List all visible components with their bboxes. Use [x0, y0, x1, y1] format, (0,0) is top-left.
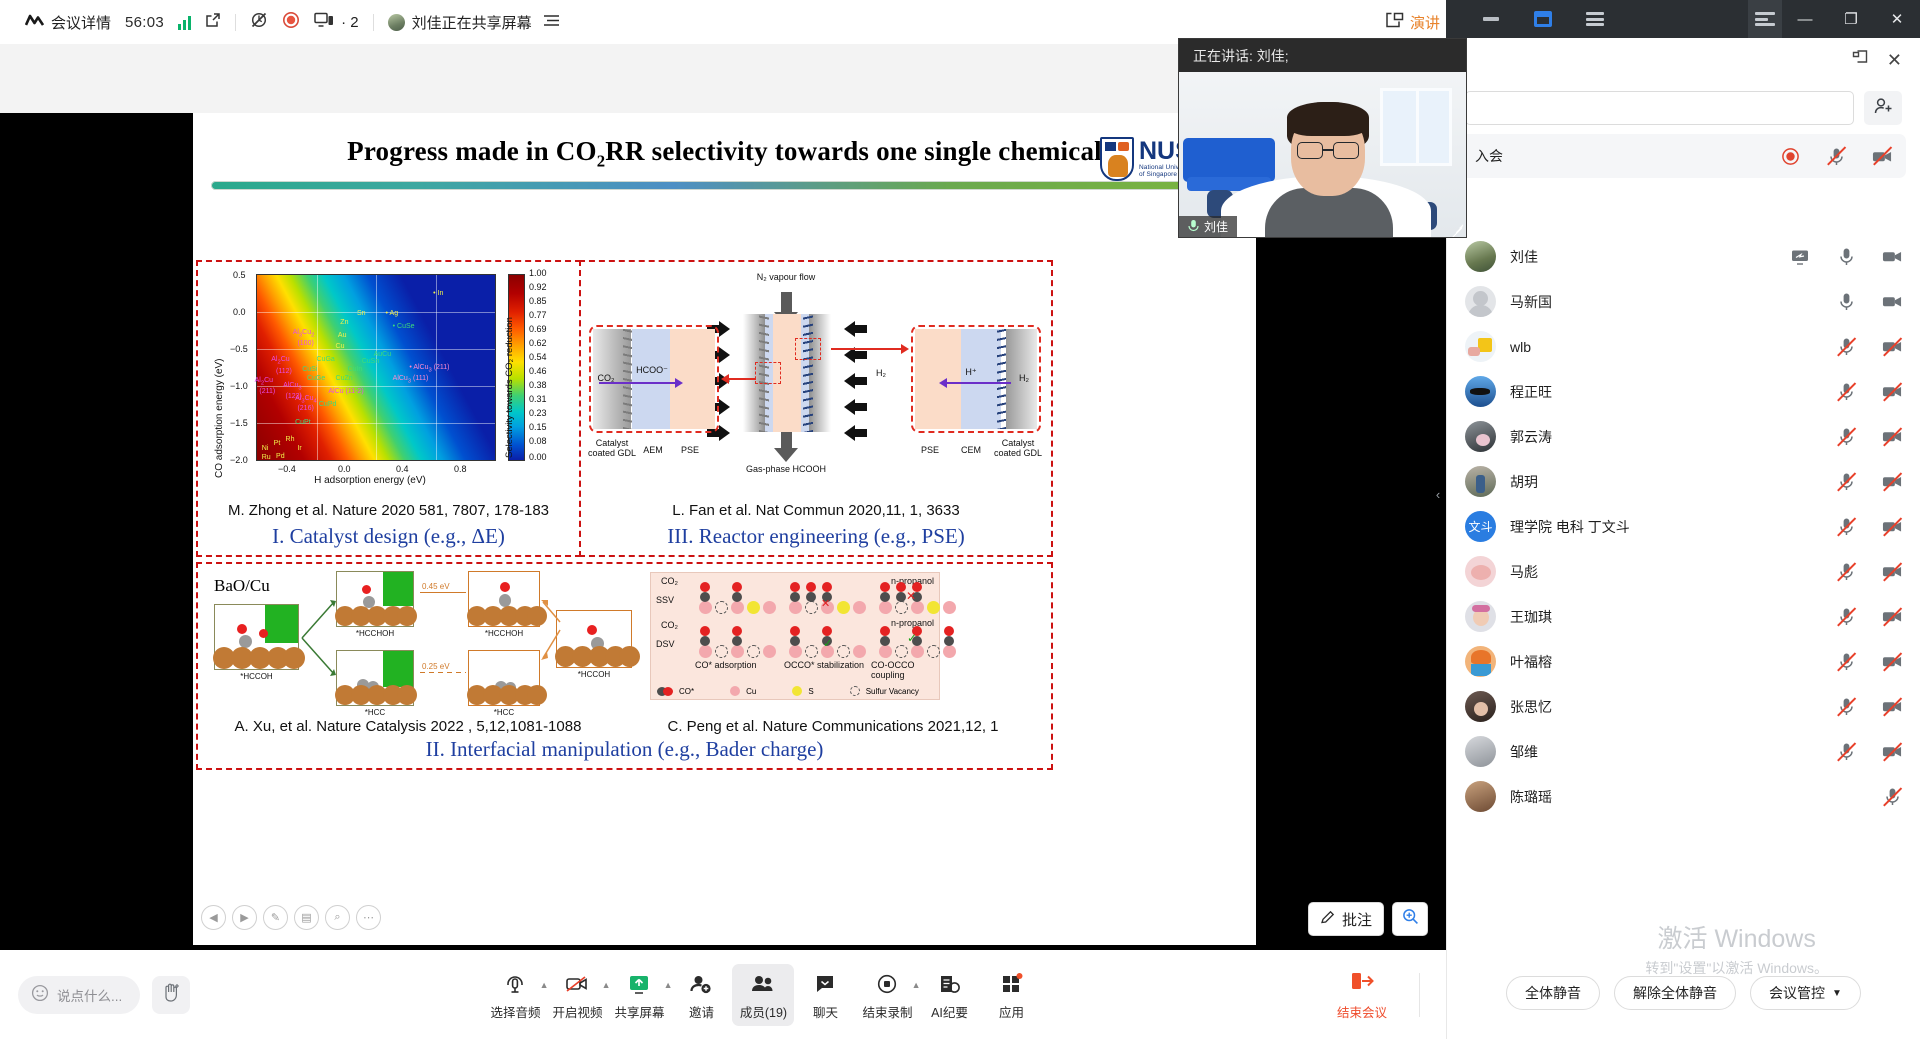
- presentation-icon: [1385, 12, 1404, 33]
- window-chrome-bar: — ❐ ✕: [1446, 0, 1920, 38]
- popout-button[interactable]: [198, 0, 228, 44]
- meeting-details-label: 会议详情: [51, 12, 111, 33]
- nus-shield-icon: [1100, 137, 1134, 181]
- window-minimize-button[interactable]: —: [1782, 0, 1828, 38]
- table-row[interactable]: 文斗 理学院 电科 丁文斗: [1447, 504, 1920, 549]
- center-membrane: [743, 314, 831, 432]
- legend-cu: Cu: [746, 687, 756, 696]
- add-person-button[interactable]: [1864, 91, 1902, 125]
- reactor-co2-left: CO₂: [593, 373, 619, 383]
- popout-window-icon[interactable]: [1851, 49, 1869, 72]
- panel-2-reference-right: C. Peng et al. Nature Communications 202…: [618, 718, 1048, 735]
- camera-off-icon[interactable]: [1882, 382, 1902, 402]
- mic-muted-icon[interactable]: [1836, 472, 1856, 492]
- resize-handle[interactable]: [1450, 221, 1464, 235]
- search-input[interactable]: [1465, 91, 1854, 125]
- meeting-tools: 选择音频 ▲ 开启视频 ▲ 共享屏幕 ▲ 邀请 成员: [484, 964, 1042, 1026]
- hamburger-menu-button[interactable]: [1578, 0, 1612, 38]
- presenter-label: 演讲: [1410, 12, 1440, 33]
- recording-disabled-button[interactable]: [243, 0, 275, 44]
- reactor-h2-mid: H₂: [869, 368, 893, 378]
- table-row[interactable]: 邹维: [1447, 729, 1920, 774]
- peng-figure: CO₂ SSV CO₂ DSV n-propanol n-propanol CO…: [650, 572, 940, 700]
- label-hccoh-start: *HCCOH: [214, 672, 299, 681]
- tool-label: 聊天: [813, 1002, 838, 1021]
- reactor-bottom-label: Gas-phase HCOOH: [721, 464, 851, 474]
- prev-slide-icon[interactable]: ◀: [201, 905, 226, 930]
- participants-panel: ✕ 入会 刘佳: [1446, 38, 1920, 1039]
- close-icon[interactable]: ✕: [1887, 50, 1902, 71]
- presentation-slide: Progress made in CO2RR selectivity towar…: [193, 113, 1256, 945]
- participants-icon: [750, 970, 776, 998]
- add-person-icon: [1873, 96, 1893, 121]
- participants-footer: 全体静音 解除全体静音 会议管控 ▼: [1447, 947, 1920, 1039]
- slide-title-sub: 2: [597, 151, 606, 170]
- right-layer-3: Catalyst coated GDL: [991, 438, 1045, 459]
- reactor-top-label: N₂ vapour flow: [731, 272, 841, 282]
- zoom-icon[interactable]: ⌕: [325, 905, 350, 930]
- share-screen-icon[interactable]: [1790, 247, 1810, 267]
- avatar: [1465, 331, 1496, 362]
- page-title: Progress made in CO2RR selectivity towar…: [193, 113, 1256, 171]
- title-divider-bar: [210, 180, 1239, 191]
- record-dot-icon[interactable]: [1780, 146, 1800, 166]
- chart-x-axis-label: H adsorption energy (eV): [190, 475, 550, 486]
- label-hcc-mid: *HCC: [336, 708, 414, 717]
- panel-interfacial-manipulation: BaO/Cu *HCCOH: [196, 562, 1053, 770]
- panel-reactor-engineering: N₂ vapour flow Gas-phase HCOOH: [579, 260, 1053, 557]
- side-panel-toggle[interactable]: [1748, 0, 1782, 38]
- table-row[interactable]: 马新国: [1447, 279, 1920, 324]
- avatar: [1465, 466, 1496, 497]
- speaker-header: 正在讲话: 刘佳;: [1179, 39, 1466, 72]
- tool-label: 邀请: [689, 1002, 714, 1021]
- more-lines-icon[interactable]: [543, 14, 560, 31]
- reactor-diagram: N₂ vapour flow Gas-phase HCOOH: [581, 262, 1051, 494]
- stop-record-icon: [875, 970, 899, 998]
- collapse-chevron-icon[interactable]: ‹: [1432, 474, 1444, 514]
- window-decor: [1380, 88, 1452, 166]
- window-close-button[interactable]: ✕: [1874, 0, 1920, 38]
- camera-off-icon[interactable]: [1882, 742, 1902, 762]
- panel-2-reference-left: A. Xu, et al. Nature Catalysis 2022 , 5,…: [198, 718, 618, 735]
- notes-icon[interactable]: ▤: [294, 905, 319, 930]
- table-row[interactable]: 陈璐瑶: [1447, 774, 1920, 819]
- avatar: [1465, 286, 1496, 317]
- struct-hcc-right: [468, 650, 540, 706]
- table-row[interactable]: 叶福榕: [1447, 639, 1920, 684]
- say-something-placeholder: 说点什么...: [57, 985, 122, 1005]
- mic-on-icon[interactable]: [1836, 247, 1856, 267]
- headset-mic-icon: [503, 970, 527, 998]
- panel-2-caption: II. Interfacial manipulation (e.g., Bade…: [198, 737, 1051, 762]
- right-cell-box: H⁺ H₂: [911, 325, 1041, 433]
- mic-muted-icon[interactable]: [1826, 146, 1846, 166]
- avatar: [1465, 691, 1496, 722]
- avatar: [1465, 241, 1496, 272]
- struct-hcc-mid: [336, 650, 414, 706]
- camera-off-icon[interactable]: [1882, 472, 1902, 492]
- avatar: [1465, 421, 1496, 452]
- window-minimize-icon: —: [1798, 11, 1813, 28]
- peng-legend: CO* Cu S Sulfur Vacancy: [657, 686, 935, 696]
- avatar: 文斗: [1465, 511, 1496, 542]
- glasses-decor: [1297, 142, 1359, 159]
- chevron-down-icon: ▼: [1832, 988, 1842, 999]
- label-hccoh-far: *HCCOH: [556, 670, 632, 679]
- action-bar-divider: [1419, 973, 1420, 1017]
- mic-muted-icon[interactable]: [1882, 787, 1902, 807]
- next-slide-icon[interactable]: ▶: [232, 905, 257, 930]
- tool-select-audio[interactable]: 选择音频 ▲: [484, 964, 546, 1026]
- meeting-control-button[interactable]: 会议管控 ▼: [1750, 976, 1861, 1010]
- struct-hcchoh-mid: [336, 571, 414, 627]
- speaker-video: 刘佳: [1179, 72, 1466, 237]
- mic-muted-icon[interactable]: [1836, 652, 1856, 672]
- presenter-indicator[interactable]: 演讲: [1385, 12, 1446, 33]
- participant-name: 马新国: [1510, 292, 1552, 312]
- table-row[interactable]: wlb: [1447, 324, 1920, 369]
- meeting-details-button[interactable]: 会议详情: [18, 0, 118, 44]
- panel-catalyst-design: CO adsorption energy (eV) • In Sn • Ag Z…: [196, 260, 581, 557]
- struct-hccoh-far: [556, 610, 632, 668]
- raise-hand-button[interactable]: [152, 976, 190, 1014]
- chart-plot-area: • In Sn • Ag Zn • CuSe Au Cu Al3Cu2 (100…: [256, 274, 496, 461]
- left-layer-3: PSE: [673, 445, 707, 455]
- toolbar-divider-2: [373, 14, 374, 31]
- speaker-video-window[interactable]: 正在讲话: 刘佳; 刘佳: [1178, 38, 1467, 238]
- panel-1-reference: M. Zhong et al. Nature 2020 581, 7807, 1…: [198, 502, 579, 519]
- zoom-in-button[interactable]: [1392, 902, 1428, 936]
- right-layer-1: PSE: [913, 445, 947, 455]
- group-row-joined[interactable]: 入会: [1461, 134, 1906, 178]
- hamburger-menu-icon: [1586, 10, 1604, 29]
- tool-label: 选择音频: [490, 1002, 540, 1021]
- record-indicator-button[interactable]: [275, 0, 307, 44]
- record-dot-icon: [282, 11, 300, 33]
- end-meeting-label: 结束会议: [1337, 1002, 1387, 1021]
- more-icon[interactable]: ⋯: [356, 905, 381, 930]
- sharer-info: 刘佳正在共享屏幕: [381, 0, 567, 44]
- left-layer-1: Catalyst coated GDL: [585, 438, 639, 459]
- tool-label: 应用: [999, 1002, 1024, 1021]
- camera-off-icon[interactable]: [1882, 607, 1902, 627]
- right-layer-2: CEM: [953, 445, 989, 455]
- panel-3-caption: III. Reactor engineering (e.g., PSE): [581, 524, 1051, 549]
- meeting-action-bar: 说点什么... 选择音频 ▲ 开启视频 ▲ 共享屏幕 ▲: [0, 950, 1446, 1039]
- participant-name: 理学院 电科 丁文斗: [1510, 517, 1630, 537]
- camera-on-icon[interactable]: [1882, 247, 1902, 267]
- avatar: [1465, 556, 1496, 587]
- speaker-name-badge: 刘佳: [1179, 216, 1237, 237]
- signal-bars-icon: [178, 15, 191, 30]
- side-panel-icon: [1755, 10, 1775, 29]
- mic-muted-icon[interactable]: [1836, 337, 1856, 357]
- chart-y-axis-label: CO adsorption energy (eV): [214, 358, 225, 478]
- speaker-name: 刘佳: [1204, 218, 1228, 235]
- emoji-icon: [31, 984, 49, 1005]
- window-restore-button[interactable]: ❐: [1828, 0, 1874, 38]
- end-meeting-button[interactable]: 结束会议: [1337, 969, 1387, 1021]
- group-label: 入会: [1475, 146, 1503, 166]
- mute-all-button[interactable]: 全体静音: [1506, 976, 1600, 1010]
- participant-list[interactable]: 刘佳 马新国: [1447, 234, 1920, 947]
- peng-co2-bottom: CO₂: [661, 620, 678, 630]
- annotation-toolbar: 批注: [1308, 902, 1428, 936]
- invite-user-icon: [689, 970, 713, 998]
- mute-all-label: 全体静音: [1525, 983, 1581, 1003]
- sharer-label: 刘佳正在共享屏幕: [412, 12, 532, 33]
- avatar: [388, 14, 405, 31]
- monitor-icon: [314, 12, 334, 32]
- apps-grid-icon: [999, 970, 1023, 998]
- network-signal-button[interactable]: [171, 0, 198, 44]
- slide-title-part2: RR selectivity towards one single chemic…: [605, 136, 1102, 166]
- maximize-icon: [1534, 11, 1552, 27]
- mic-muted-icon[interactable]: [1836, 382, 1856, 402]
- avatar: [1465, 736, 1496, 767]
- participants-panel-header: ✕: [1447, 38, 1920, 82]
- zoom-in-icon: [1402, 908, 1419, 930]
- window-close-icon: ✕: [1891, 10, 1904, 28]
- unmute-all-button[interactable]: 解除全体静音: [1614, 976, 1736, 1010]
- participants-search-row: [1447, 82, 1920, 134]
- screen-count-label: · 2: [341, 14, 359, 31]
- window-restore-icon: ❐: [1844, 10, 1857, 28]
- label-hcchoh-mid: *HCCHOH: [336, 629, 414, 638]
- external-link-icon: [205, 12, 221, 32]
- app-logo-icon: [25, 14, 44, 31]
- tool-label: 共享屏幕: [614, 1002, 664, 1021]
- table-row[interactable]: 郭云涛: [1447, 414, 1920, 459]
- avatar: [1465, 601, 1496, 632]
- tool-apps[interactable]: 应用: [980, 964, 1042, 1026]
- panel-1-caption: I. Catalyst design (e.g., ΔE): [198, 524, 579, 549]
- peng-step-2: OCCO* stabilization: [784, 660, 864, 670]
- tool-stop-recording[interactable]: 结束录制 ▲: [856, 964, 918, 1026]
- table-row[interactable]: 张思忆: [1447, 684, 1920, 729]
- table-row[interactable]: 王珈琪: [1447, 594, 1920, 639]
- mic-muted-icon[interactable]: [1836, 517, 1856, 537]
- peng-step-1: CO* adsorption: [695, 660, 757, 670]
- legend-vacancy: Sulfur Vacancy: [866, 687, 919, 696]
- recording-off-icon: [250, 11, 268, 33]
- minimize-panel-button[interactable]: [1474, 0, 1508, 38]
- peng-step-3: CO-OCCO coupling: [871, 660, 939, 680]
- mic-muted-icon[interactable]: [1836, 742, 1856, 762]
- energy-label-2: 0.25 eV: [422, 662, 450, 671]
- ai-summary-icon: [937, 970, 961, 998]
- table-row[interactable]: 刘佳: [1447, 234, 1920, 279]
- mic-on-icon[interactable]: [1836, 292, 1856, 312]
- exit-door-icon: [1349, 969, 1375, 998]
- meeting-control-label: 会议管控: [1769, 983, 1825, 1003]
- avatar: [1465, 376, 1496, 407]
- struct-hcchoh-right: [468, 571, 540, 627]
- avatar: [1465, 781, 1496, 812]
- participant-name: 胡玥: [1510, 472, 1538, 492]
- participant-name: 程正旺: [1510, 382, 1552, 402]
- struct-hccoh-start: [214, 604, 299, 670]
- bao-cu-title: BaO/Cu: [214, 576, 270, 596]
- minimize-icon: [1483, 17, 1499, 21]
- unmute-all-label: 解除全体静音: [1633, 983, 1717, 1003]
- chart-colorbar-label: Selectivity towards CO₂ reduction: [504, 317, 515, 458]
- left-layer-2: AEM: [635, 445, 671, 455]
- sofa-decor: [1183, 138, 1275, 182]
- participant-name: 叶福榕: [1510, 652, 1552, 672]
- participant-name: 陈璐瑶: [1510, 787, 1552, 807]
- reactor-h2-right: H₂: [1013, 373, 1035, 383]
- tool-label: 成员(19): [740, 1002, 787, 1021]
- participant-name: 郭云涛: [1510, 427, 1552, 447]
- chat-icon: [813, 970, 837, 998]
- meeting-timer: 56:03: [118, 0, 171, 44]
- peng-co2-top: CO₂: [661, 576, 678, 586]
- tool-participants[interactable]: 成员(19): [732, 964, 794, 1026]
- toolbar-divider: [235, 14, 236, 31]
- energy-label-1: 0.45 eV: [422, 582, 450, 591]
- speaking-label: 正在讲话: 刘佳;: [1193, 46, 1289, 66]
- panel-3-reference: L. Fan et al. Nat Commun 2020,11, 1, 363…: [581, 502, 1051, 519]
- slide-title-part1: Progress made in CO: [347, 136, 597, 166]
- legend-s: S: [808, 687, 813, 696]
- label-hcc-right: *HCC: [468, 708, 540, 717]
- tool-chat[interactable]: 聊天: [794, 964, 856, 1026]
- reactor-hplus-label: H⁺: [961, 367, 981, 378]
- left-cell-box: CO₂ HCOO⁻: [589, 325, 719, 433]
- mic-muted-icon[interactable]: [1836, 607, 1856, 627]
- bao-cu-figure: BaO/Cu *HCCOH: [208, 570, 608, 720]
- screen-count-button[interactable]: · 2: [307, 0, 366, 44]
- tool-label: AI纪要: [931, 1002, 968, 1021]
- annotate-button[interactable]: 批注: [1308, 902, 1384, 936]
- label-hcchoh-right: *HCCHOH: [468, 629, 540, 638]
- mic-muted-icon[interactable]: [1836, 562, 1856, 582]
- raise-hand-icon: [161, 981, 181, 1008]
- participant-name: wlb: [1510, 339, 1531, 355]
- tool-invite[interactable]: 邀请: [670, 964, 732, 1026]
- mic-muted-icon[interactable]: [1836, 697, 1856, 717]
- avatar: [1465, 646, 1496, 677]
- table-row[interactable]: 马彪: [1447, 549, 1920, 594]
- mic-muted-icon[interactable]: [1836, 427, 1856, 447]
- camera-off-icon[interactable]: [1882, 652, 1902, 672]
- table-row[interactable]: 胡玥: [1447, 459, 1920, 504]
- tool-label: 开启视频: [552, 1002, 602, 1021]
- camera-off-icon: [564, 970, 590, 998]
- heatmap-chart: CO adsorption energy (eV) • In Sn • Ag Z…: [208, 268, 568, 488]
- annotate-label: 批注: [1342, 909, 1372, 930]
- say-something-input[interactable]: 说点什么...: [18, 976, 140, 1014]
- peng-ssv: SSV: [656, 595, 674, 605]
- camera-off-icon[interactable]: [1882, 562, 1902, 582]
- mic-muted-icon: [1188, 219, 1199, 235]
- table-row[interactable]: 程正旺: [1447, 369, 1920, 414]
- camera-off-icon[interactable]: [1882, 427, 1902, 447]
- participant-name: 张思忆: [1510, 697, 1552, 717]
- camera-off-icon[interactable]: [1882, 517, 1902, 537]
- slide-viewer-toolbar: ◀ ▶ ✎ ▤ ⌕ ⋯: [193, 894, 1256, 940]
- pen-annotate-icon: [1320, 909, 1336, 929]
- tool-label: 结束录制: [862, 1002, 912, 1021]
- legend-co: CO*: [679, 687, 694, 696]
- reactor-hcoo-label: HCOO⁻: [631, 365, 673, 376]
- camera-off-icon[interactable]: [1882, 337, 1902, 357]
- participant-name: 马彪: [1510, 562, 1538, 582]
- peng-dsv: DSV: [656, 639, 675, 649]
- tool-ai-summary[interactable]: AI纪要: [918, 964, 980, 1026]
- chart-gridlines: [257, 275, 495, 460]
- camera-off-icon[interactable]: [1872, 146, 1892, 166]
- tool-share-screen[interactable]: 共享屏幕 ▲: [608, 964, 670, 1026]
- share-screen-icon: [627, 970, 651, 998]
- camera-on-icon[interactable]: [1882, 292, 1902, 312]
- tool-start-video[interactable]: 开启视频 ▲: [546, 964, 608, 1026]
- participant-name: 王珈琪: [1510, 607, 1552, 627]
- participant-name: 刘佳: [1510, 247, 1538, 267]
- pen-icon[interactable]: ✎: [263, 905, 288, 930]
- camera-off-icon[interactable]: [1882, 697, 1902, 717]
- participant-name: 邹维: [1510, 742, 1538, 762]
- maximize-panel-button[interactable]: [1526, 0, 1560, 38]
